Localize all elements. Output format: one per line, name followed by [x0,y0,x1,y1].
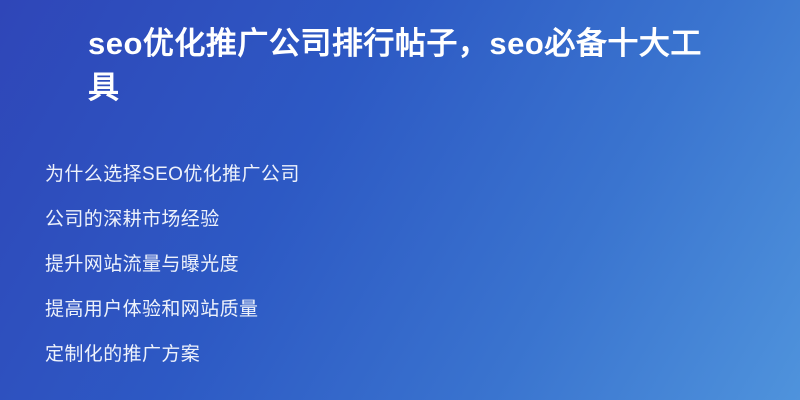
title-block: seo优化推广公司排行帖子，seo必备十大工具 [88,22,708,110]
list-item: 为什么选择SEO优化推广公司 [45,152,745,197]
page-title: seo优化推广公司排行帖子，seo必备十大工具 [88,22,708,110]
poster-canvas: seo优化推广公司排行帖子，seo必备十大工具 为什么选择SEO优化推广公司 公… [0,0,800,400]
list-item: 提高用户体验和网站质量 [45,287,745,332]
list-item: 定制化的推广方案 [45,332,745,377]
list-item: 公司的深耕市场经验 [45,197,745,242]
list-item: 提升网站流量与曝光度 [45,242,745,287]
bullet-list: 为什么选择SEO优化推广公司 公司的深耕市场经验 提升网站流量与曝光度 提高用户… [45,152,745,377]
